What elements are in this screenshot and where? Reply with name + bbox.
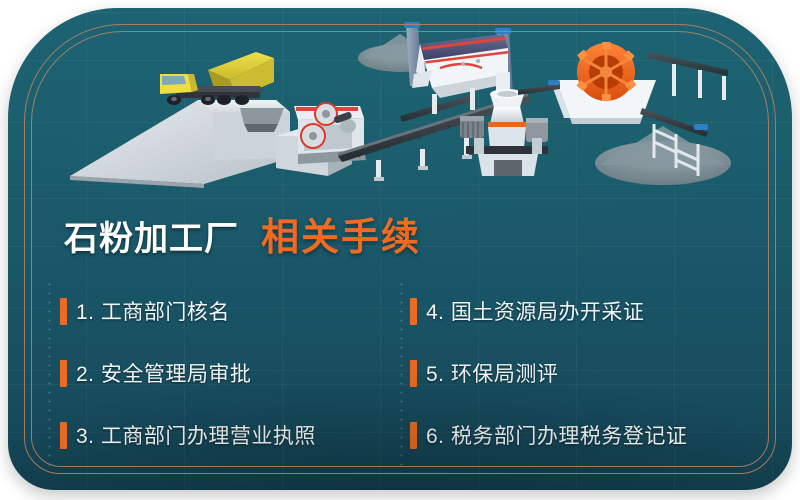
production-line-illustration: [8, 8, 792, 228]
headline-highlight: 相关手续: [261, 206, 421, 261]
list-item: 6. 税务部门办理税务登记证: [410, 404, 760, 466]
bullet-bar-icon: [60, 422, 67, 449]
list-item-label: 2. 安全管理局审批: [76, 358, 251, 388]
list-item-label: 1. 工商部门核名: [76, 296, 230, 326]
list-item: 5. 环保局测评: [410, 342, 760, 404]
list-item-label: 4. 国土资源局办开采证: [426, 296, 644, 326]
bullet-bar-icon: [410, 422, 417, 449]
list-item: 1. 工商部门核名: [60, 280, 410, 342]
tick-marks-left: [48, 280, 51, 470]
headline-primary: 石粉加工厂: [64, 211, 239, 260]
list-item: 4. 国土资源局办开采证: [410, 280, 760, 342]
list-item: 2. 安全管理局审批: [60, 342, 410, 404]
bullet-bar-icon: [60, 360, 67, 387]
dump-truck: [160, 52, 274, 105]
procedure-list: 1. 工商部门核名 4. 国土资源局办开采证 2. 安全管理局审批 5. 环保局…: [60, 280, 760, 466]
bullet-bar-icon: [410, 360, 417, 387]
infographic-banner: 石粉加工厂 相关手续 1. 工商部门核名 4. 国土资源局办开采证 2. 安全管…: [0, 0, 800, 500]
bullet-bar-icon: [410, 298, 417, 325]
teal-panel: 石粉加工厂 相关手续 1. 工商部门核名 4. 国土资源局办开采证 2. 安全管…: [8, 8, 792, 490]
bullet-bar-icon: [60, 298, 67, 325]
list-item-label: 5. 环保局测评: [426, 358, 558, 388]
headline: 石粉加工厂 相关手续: [64, 206, 421, 261]
list-item-label: 3. 工商部门办理营业执照: [76, 420, 316, 450]
list-item: 3. 工商部门办理营业执照: [60, 404, 410, 466]
belt-conveyor-right: [648, 52, 728, 100]
list-item-label: 6. 税务部门办理税务登记证: [426, 420, 687, 450]
